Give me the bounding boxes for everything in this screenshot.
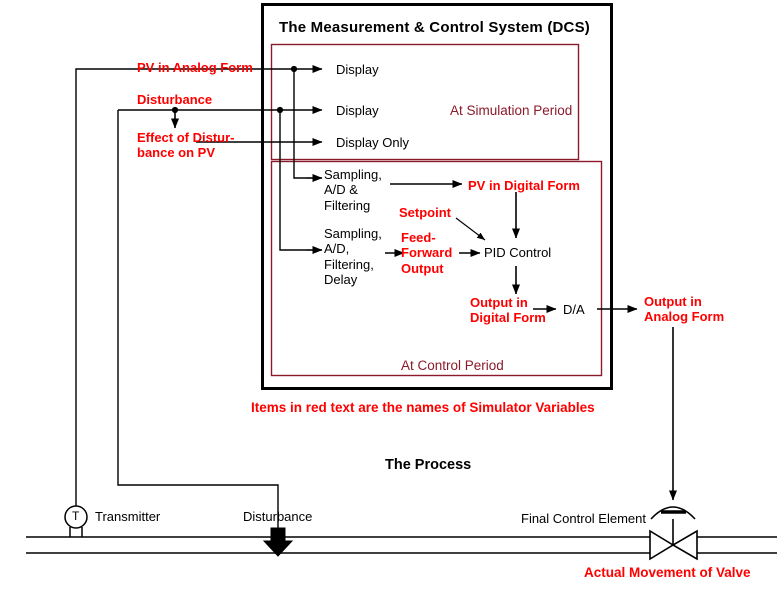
dcs-outer-box [263,5,612,389]
da-converter-block: D/A [563,302,585,317]
field-disturbance-label: Disturbance [243,509,312,524]
variable-pv-digital-form: PV in Digital Form [468,178,580,193]
control-valve-symbol [650,507,697,559]
actual-movement-of-valve-label: Actual Movement of Valve [584,565,751,581]
red-text-caption: Items in red text are the names of Simul… [251,400,595,416]
transmitter-label: Transmitter [95,509,160,524]
display-item-3: Display Only [336,135,409,150]
sampling-block-1: Sampling, A/D & Filtering [324,167,382,213]
control-period-label: At Control Period [401,358,504,374]
disturbance-signal-path [118,110,278,528]
transmitter-symbol-label: T [72,509,79,523]
setpoint-to-pid-arrow [456,218,485,240]
variable-setpoint: Setpoint [399,205,451,220]
disturbance-block-arrow [264,528,292,556]
page-title: The Measurement & Control System (DCS) [279,19,590,37]
variable-output-digital-form: Output in Digital Form [470,295,546,326]
output-analog-form: Output in Analog Form [644,294,724,325]
variable-feedforward-output: Feed- Forward Output [401,230,452,276]
sampling-block-2: Sampling, A/D, Filtering, Delay [324,226,382,287]
input-effect-of-disturbance-on-pv: Effect of Distur- bance on PV [137,130,235,161]
sampling-block-arrows [306,178,322,250]
process-label: The Process [385,457,471,474]
input-pv-analog-form: PV in Analog Form [137,60,253,75]
final-control-element-label: Final Control Element [521,511,646,526]
diagram-canvas: The Measurement & Control System (DCS) D… [0,0,777,603]
input-disturbance: Disturbance [137,92,212,107]
display-item-1: Display [336,62,379,77]
display-item-2: Display [336,103,379,118]
pid-control-block: PID Control [484,245,551,260]
transmitter-signal-path [76,69,78,511]
simulation-period-label: At Simulation Period [450,103,572,119]
